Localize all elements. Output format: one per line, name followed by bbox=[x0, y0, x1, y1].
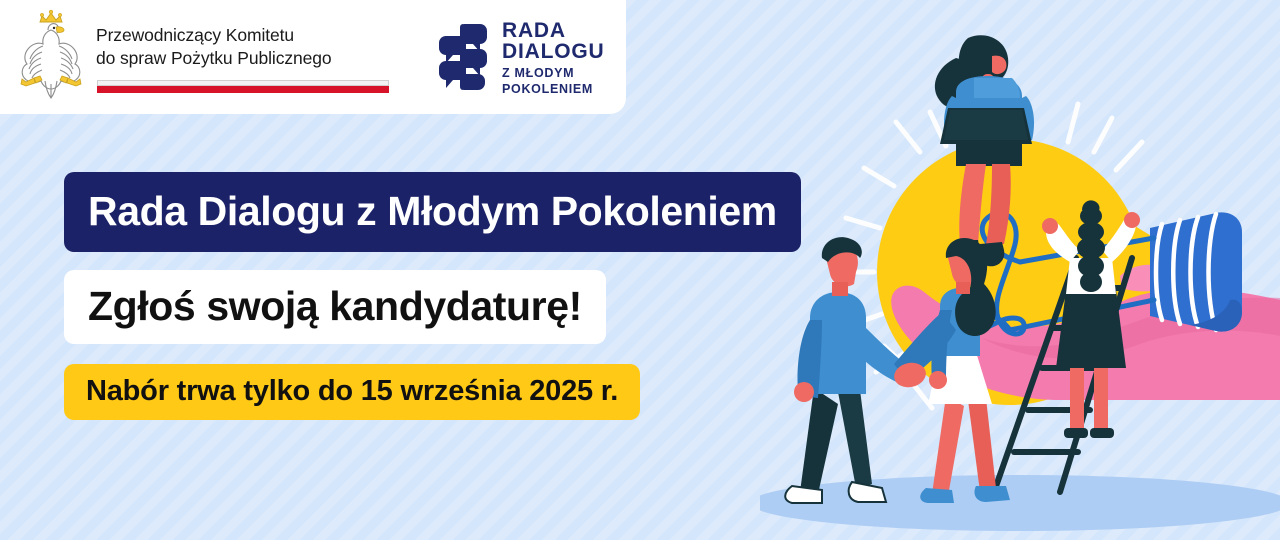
logo-line-rada: RADA bbox=[502, 20, 604, 41]
ground-shadow-ellipse bbox=[760, 475, 1280, 531]
speech-bubble-plant-icon bbox=[430, 20, 494, 94]
polish-eagle-emblem-icon bbox=[12, 8, 90, 104]
lightbulb-idea-teamwork-illustration bbox=[760, 0, 1280, 540]
deadline-badge: Nabór trwa tylko do 15 września 2025 r. bbox=[64, 364, 640, 420]
rada-dialogu-logo: RADA DIALOGU Z MŁODYM POKOLENIEM bbox=[430, 18, 610, 96]
flag-bar-red bbox=[97, 86, 389, 93]
ministry-title-line2: do spraw Pożytku Publicznego bbox=[96, 47, 401, 70]
rada-dialogu-wordmark: RADA DIALOGU Z MŁODYM POKOLENIEM bbox=[502, 20, 604, 97]
ministry-title: Przewodniczący Komitetu do spraw Pożytku… bbox=[96, 24, 401, 70]
cta-text: Zgłoś swoją kandydaturę! bbox=[64, 270, 606, 344]
polish-flag-bars bbox=[97, 80, 389, 93]
bulb-screw-base bbox=[1150, 212, 1242, 331]
headline-stack: Rada Dialogu z Młodym Pokoleniem Zgłoś s… bbox=[64, 172, 801, 420]
campaign-banner: Przewodniczący Komitetu do spraw Pożytku… bbox=[0, 0, 1280, 540]
headline-title: Rada Dialogu z Młodym Pokoleniem bbox=[64, 172, 801, 252]
header-bar: Przewodniczący Komitetu do spraw Pożytku… bbox=[0, 0, 626, 114]
ministry-title-line1: Przewodniczący Komitetu bbox=[96, 24, 401, 47]
logo-line-pokoleniem: POKOLENIEM bbox=[502, 81, 604, 97]
logo-line-z-mlodym: Z MŁODYM bbox=[502, 65, 604, 81]
logo-line-dialogu: DIALOGU bbox=[502, 41, 604, 63]
